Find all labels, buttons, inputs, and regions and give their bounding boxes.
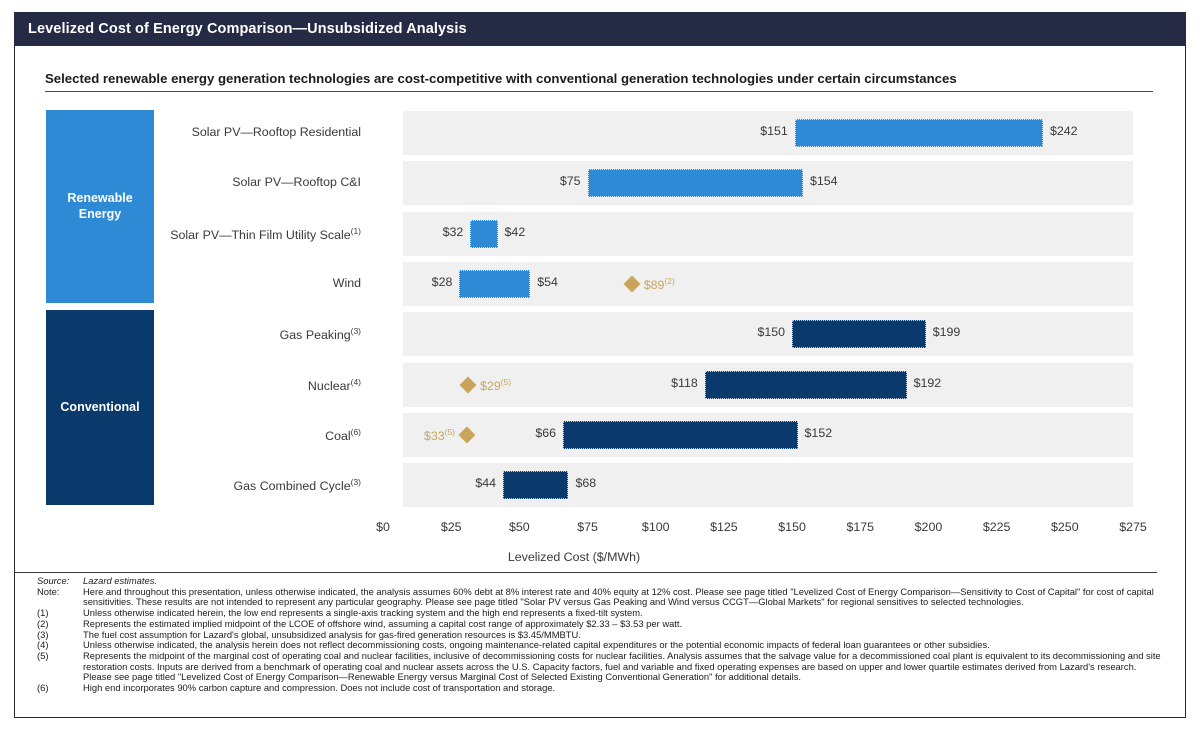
footnote-key: Note: <box>37 587 83 598</box>
x-axis-tick-label: $225 <box>983 520 1011 534</box>
range-bar <box>795 119 1043 147</box>
range-bar <box>470 220 497 248</box>
bar-high-value: $152 <box>798 426 833 440</box>
x-axis: $0$25$50$75$100$125$150$175$200$225$250$… <box>0 520 1172 540</box>
x-axis-tick-label: $125 <box>710 520 738 534</box>
bar-low-value: $150 <box>758 325 793 339</box>
diamond-marker-icon <box>623 275 640 292</box>
marker-footnote-ref: (2) <box>664 276 674 286</box>
bar-high-value: $192 <box>907 376 942 390</box>
range-bar <box>563 421 798 449</box>
marker-footnote-ref: (5) <box>445 427 455 437</box>
marker-value-label: $33(5) <box>424 427 455 443</box>
x-axis-tick-label: $0 <box>376 520 390 534</box>
row-label-footnote-ref: (6) <box>351 427 361 437</box>
row-label-footnote-ref: (1) <box>351 226 361 236</box>
x-axis-tick-label: $75 <box>577 520 598 534</box>
bar-high-value: $154 <box>803 174 838 188</box>
footnote-row: (6)High end incorporates 90% carbon capt… <box>37 683 1165 694</box>
bar-low-value: $28 <box>432 275 460 289</box>
row-label: Coal(6) <box>61 427 361 443</box>
row-label: Gas Combined Cycle(3) <box>61 477 361 493</box>
bar-high-value: $199 <box>926 325 961 339</box>
x-axis-tick-label: $175 <box>846 520 874 534</box>
bar-low-value: $44 <box>475 476 503 490</box>
marker-value-label: $29(5) <box>480 377 511 393</box>
marker-group: $89(2) <box>626 276 675 292</box>
footnote-row: Note:Here and throughout this presentati… <box>37 587 1165 608</box>
footnote-text: Here and throughout this presentation, u… <box>83 587 1165 608</box>
bar-high-value: $54 <box>530 275 558 289</box>
range-bar <box>792 320 926 348</box>
row-label: Solar PV—Thin Film Utility Scale(1) <box>61 226 361 242</box>
bar-low-value: $151 <box>760 124 795 138</box>
range-bar <box>588 169 803 197</box>
marker-group: $29(5) <box>462 377 511 393</box>
footnote-row: (5)Represents the midpoint of the margin… <box>37 651 1165 683</box>
range-bar <box>705 371 907 399</box>
x-axis-tick-label: $100 <box>642 520 670 534</box>
footnote-key: (6) <box>37 683 83 694</box>
x-axis-tick-label: $250 <box>1051 520 1079 534</box>
x-axis-tick-label: $275 <box>1119 520 1147 534</box>
diamond-marker-icon <box>460 376 477 393</box>
x-axis-tick-label: $150 <box>778 520 806 534</box>
bar-low-value: $75 <box>560 174 588 188</box>
footnote-text: Represents the estimated implied midpoin… <box>83 619 1165 630</box>
bar-low-value: $32 <box>443 225 471 239</box>
footnote-row: (2)Represents the estimated implied midp… <box>37 619 1165 630</box>
row-label-footnote-ref: (3) <box>351 477 361 487</box>
range-bar <box>459 270 530 298</box>
row-label: Gas Peaking(3) <box>61 326 361 342</box>
row-label: Nuclear(4) <box>61 377 361 393</box>
footnote-text: Represents the midpoint of the marginal … <box>83 651 1165 683</box>
bar-low-value: $118 <box>671 376 705 390</box>
footnotes: Source:Lazard estimates.Note:Here and th… <box>37 576 1165 694</box>
diamond-marker-icon <box>459 426 476 443</box>
marker-footnote-ref: (5) <box>501 377 511 387</box>
row-label: Solar PV—Rooftop C&I <box>61 175 361 189</box>
row-label: Wind <box>61 276 361 290</box>
row-label: Solar PV—Rooftop Residential <box>61 125 361 139</box>
footnote-divider <box>15 572 1157 573</box>
x-axis-title: Levelized Cost ($/MWh) <box>0 550 1172 564</box>
x-axis-tick-label: $200 <box>915 520 943 534</box>
row-label-footnote-ref: (4) <box>351 377 361 387</box>
bar-high-value: $242 <box>1043 124 1078 138</box>
bar-high-value: $68 <box>568 476 596 490</box>
footnote-text: High end incorporates 90% carbon capture… <box>83 683 1165 694</box>
footnote-key: (5) <box>37 651 83 662</box>
range-bar <box>503 471 568 499</box>
x-axis-tick-label: $25 <box>441 520 462 534</box>
marker-group: $33(5) <box>424 427 473 443</box>
bar-high-value: $42 <box>498 225 526 239</box>
row-label-footnote-ref: (3) <box>351 326 361 336</box>
footnote-key: (2) <box>37 619 83 630</box>
bar-low-value: $66 <box>535 426 563 440</box>
slide: Levelized Cost of Energy Comparison—Unsu… <box>0 0 1200 732</box>
x-axis-tick-label: $50 <box>509 520 530 534</box>
marker-value-label: $89(2) <box>644 276 675 292</box>
